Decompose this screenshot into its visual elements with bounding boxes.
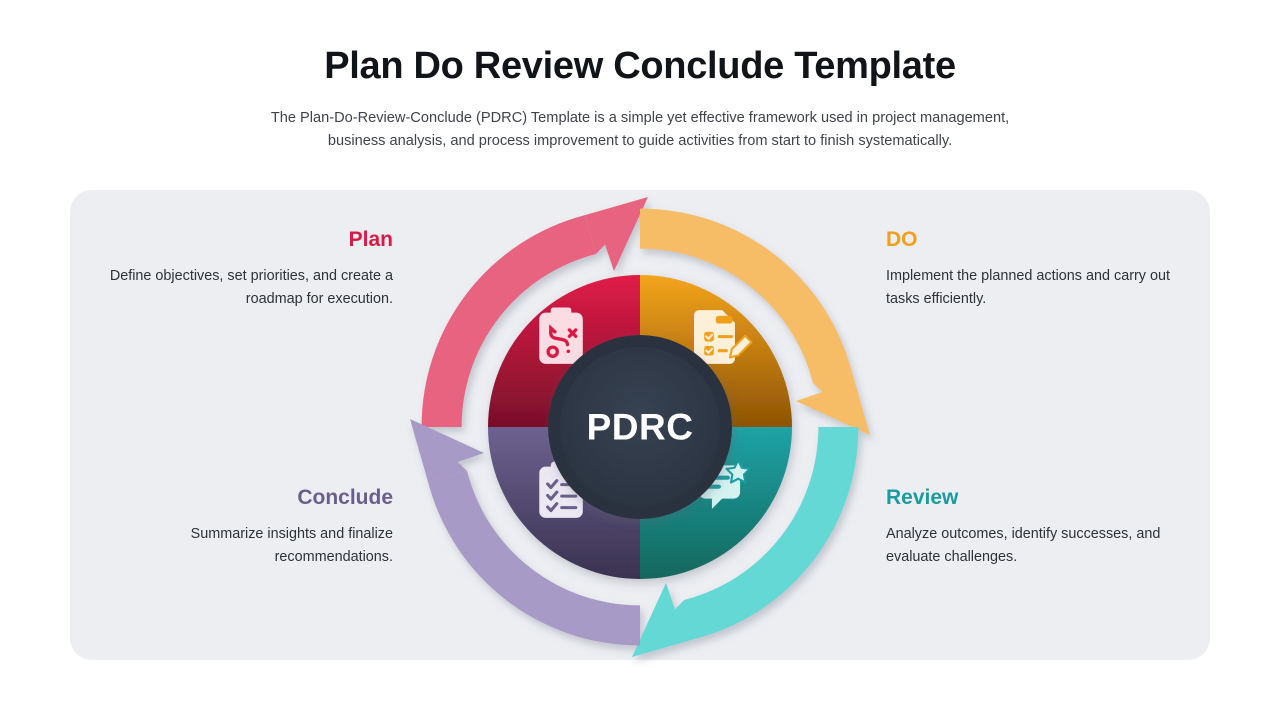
stage-block-conclude[interactable]: Conclude Summarize insights and finalize… [93, 486, 393, 569]
stage-body-conclude: Summarize insights and finalize recommen… [93, 523, 393, 569]
strategy-clipboard-icon [539, 308, 583, 364]
stage-block-review[interactable]: Review Analyze outcomes, identify succes… [886, 486, 1186, 569]
header: Plan Do Review Conclude Template The Pla… [0, 44, 1280, 154]
stage-heading-do: DO [886, 228, 1186, 251]
cycle-center[interactable]: PDRC [548, 335, 732, 519]
stage-body-plan: Define objectives, set priorities, and c… [93, 265, 393, 311]
stage-body-do: Implement the planned actions and carry … [886, 265, 1186, 311]
stage-heading-conclude: Conclude [93, 486, 393, 509]
center-label: PDRC [587, 407, 694, 448]
stage-block-plan[interactable]: Plan Define objectives, set priorities, … [93, 228, 393, 311]
stage-block-do[interactable]: DO Implement the planned actions and car… [886, 228, 1186, 311]
page-subtitle: The Plan-Do-Review-Conclude (PDRC) Templ… [240, 107, 1040, 154]
page-title: Plan Do Review Conclude Template [0, 44, 1280, 89]
slide-root: Plan Do Review Conclude Template The Pla… [0, 0, 1280, 720]
stage-body-review: Analyze outcomes, identify successes, an… [886, 523, 1186, 569]
stage-heading-review: Review [886, 486, 1186, 509]
stage-heading-plan: Plan [93, 228, 393, 251]
pdrc-cycle-diagram: PDRC [400, 187, 880, 667]
